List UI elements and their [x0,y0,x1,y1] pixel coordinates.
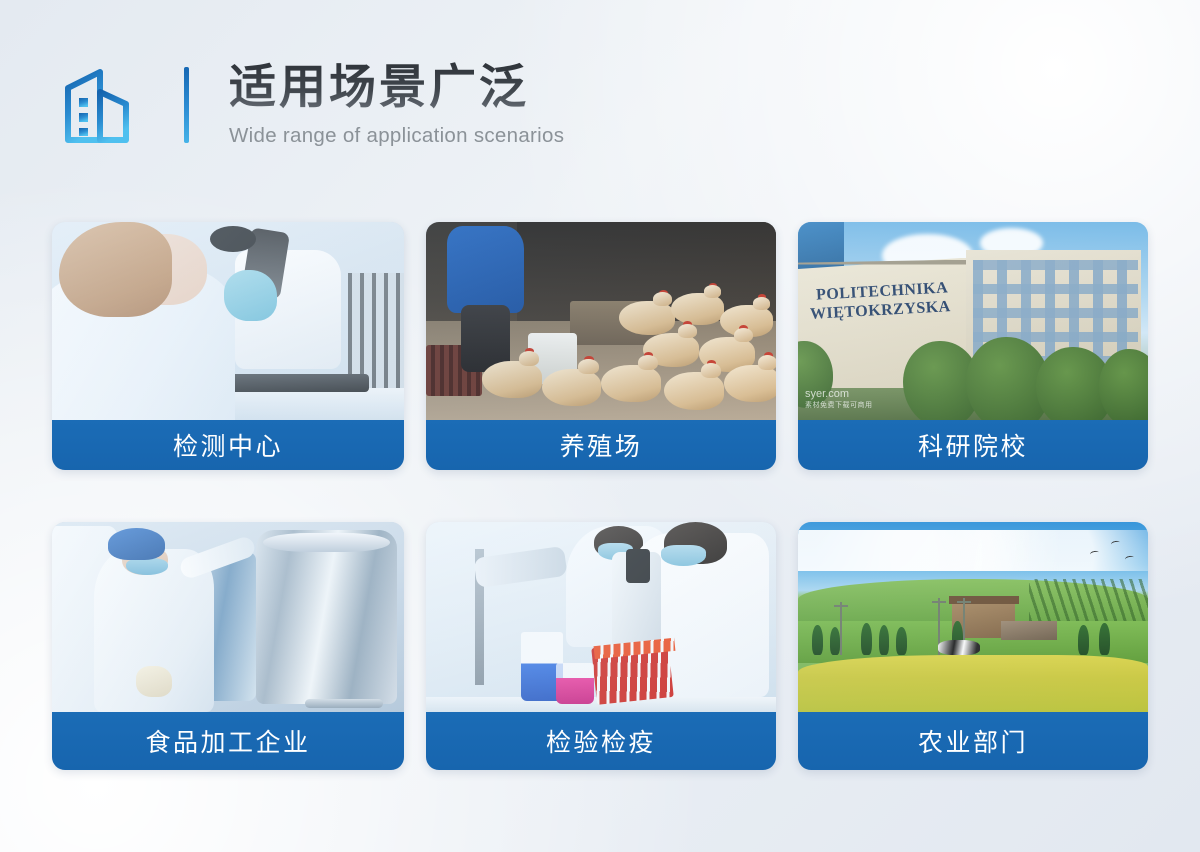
scenario-card-agriculture-department[interactable]: 农业部门 [798,522,1148,770]
page-title: 适用场景广泛 [229,62,564,115]
card-photo-research-institute: POLITECHNIKA WIĘTOKRZYSKA syer.com 素材免费下… [798,222,1148,420]
card-photo-breeding-farm [426,222,776,420]
page-subtitle: Wide range of application scenarios [229,124,564,148]
scenario-card-research-institute[interactable]: POLITECHNIKA WIĘTOKRZYSKA syer.com 素材免费下… [798,222,1148,470]
scenario-card-inspection-center[interactable]: 检测中心 [52,222,404,470]
card-photo-inspection-quarantine [426,522,776,712]
card-photo-food-processing [52,522,404,712]
card-label-food-processing: 食品加工企业 [52,712,404,770]
card-label-agriculture-department: 农业部门 [798,712,1148,770]
card-label-research-institute: 科研院校 [798,420,1148,470]
building-icon [62,66,134,144]
watermark-subtext: 素材免费下载可商用 [805,400,873,410]
scenario-card-inspection-quarantine[interactable]: 检验检疫 [426,522,776,770]
page-header: 适用场景广泛 Wide range of application scenari… [0,0,1200,200]
header-divider [184,67,189,143]
watermark-text: syer.com [805,388,849,400]
card-photo-inspection-center [52,222,404,420]
card-label-inspection-quarantine: 检验检疫 [426,712,776,770]
scenario-card-food-processing[interactable]: 食品加工企业 [52,522,404,770]
image-watermark: syer.com 素材免费下载可商用 [805,388,873,410]
card-photo-agriculture-department [798,522,1148,712]
card-label-breeding-farm: 养殖场 [426,420,776,470]
scenario-card-grid: 检测中心 养殖场 [52,222,1148,770]
card-label-inspection-center: 检测中心 [52,420,404,470]
scenario-card-breeding-farm[interactable]: 养殖场 [426,222,776,470]
